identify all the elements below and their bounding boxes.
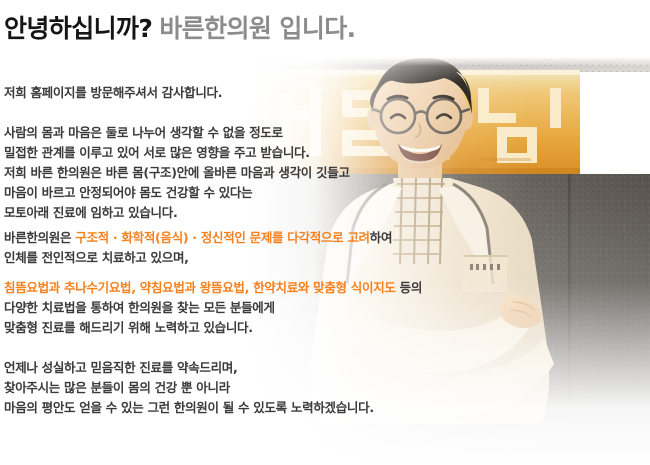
highlighted-text: 구조적 · 화학적(음식) · 정신적인 문제를 다각적으로 고려	[75, 230, 370, 245]
paragraph-closing: 언제나 성실하고 믿음직한 진료를 약속드리며, 찾아주시는 많은 분들이 몸의…	[4, 358, 374, 418]
text-content: 안녕하십니까?바른한의원 입니다. 저희 홈페이지를 방문해주셔서 감사합니다.…	[0, 0, 650, 465]
paragraph-greeting: 저희 홈페이지를 방문해주셔서 감사합니다.	[4, 83, 222, 103]
paragraph-line: 찾아주시는 많은 분들이 몸의 건강 뿐 아니라	[4, 378, 374, 398]
paragraph-line: 바른한의원은 구조적 · 화학적(음식) · 정신적인 문제를 다각적으로 고려…	[4, 228, 392, 248]
paragraph-line: 인체를 전인적으로 치료하고 있으며,	[4, 248, 392, 268]
page-root: 안녕하십니까?바른한의원 입니다. 저희 홈페이지를 방문해주셔서 감사합니다.…	[0, 0, 650, 465]
paragraph-line: 밀접한 관계를 이루고 있어 서로 많은 영향을 주고 받습니다.	[4, 143, 350, 163]
paragraph-line: 마음의 평안도 얻을 수 있는 그런 한의원이 될 수 있도록 노력하겠습니다.	[4, 398, 374, 418]
paragraph-line: 마음이 바르고 안정되어야 몸도 건강할 수 있다는	[4, 183, 350, 203]
paragraph-holistic-care: 바른한의원은 구조적 · 화학적(음식) · 정신적인 문제를 다각적으로 고려…	[4, 228, 392, 268]
highlighted-text: 침뜸요법과 추나수기요법, 약침요법과 왕뜸요법, 한약치료와 맞춤형 식이지도	[4, 280, 396, 295]
paragraph-philosophy: 사람의 몸과 마음은 둘로 나누어 생각할 수 없을 정도로 밀접한 관계를 이…	[4, 123, 350, 223]
paragraph-treatments: 침뜸요법과 추나수기요법, 약침요법과 왕뜸요법, 한약치료와 맞춤형 식이지도…	[4, 278, 422, 338]
paragraph-line: 저희 홈페이지를 방문해주셔서 감사합니다.	[4, 83, 222, 103]
page-title-strong: 안녕하십니까?	[4, 14, 152, 43]
paragraph-line: 언제나 성실하고 믿음직한 진료를 약속드리며,	[4, 358, 374, 378]
paragraph-line: 다양한 치료법을 통하여 한의원을 찾는 모든 분들에게	[4, 298, 422, 318]
text-suffix: 등의	[396, 280, 422, 295]
text-prefix: 바른한의원은	[4, 230, 75, 245]
paragraph-line: 저희 바른 한의원은 바른 몸(구조)안에 올바른 마음과 생각이 깃들고	[4, 163, 350, 183]
page-title: 안녕하십니까?바른한의원 입니다.	[4, 14, 356, 44]
paragraph-line: 침뜸요법과 추나수기요법, 약침요법과 왕뜸요법, 한약치료와 맞춤형 식이지도…	[4, 278, 422, 298]
paragraph-line: 모토아래 진료에 임하고 있습니다.	[4, 203, 350, 223]
page-title-soft: 바른한의원 입니다.	[159, 14, 355, 43]
paragraph-line: 사람의 몸과 마음은 둘로 나누어 생각할 수 없을 정도로	[4, 123, 350, 143]
text-suffix: 하여	[370, 230, 392, 245]
paragraph-line: 맞춤형 진료를 해드리기 위해 노력하고 있습니다.	[4, 318, 422, 338]
